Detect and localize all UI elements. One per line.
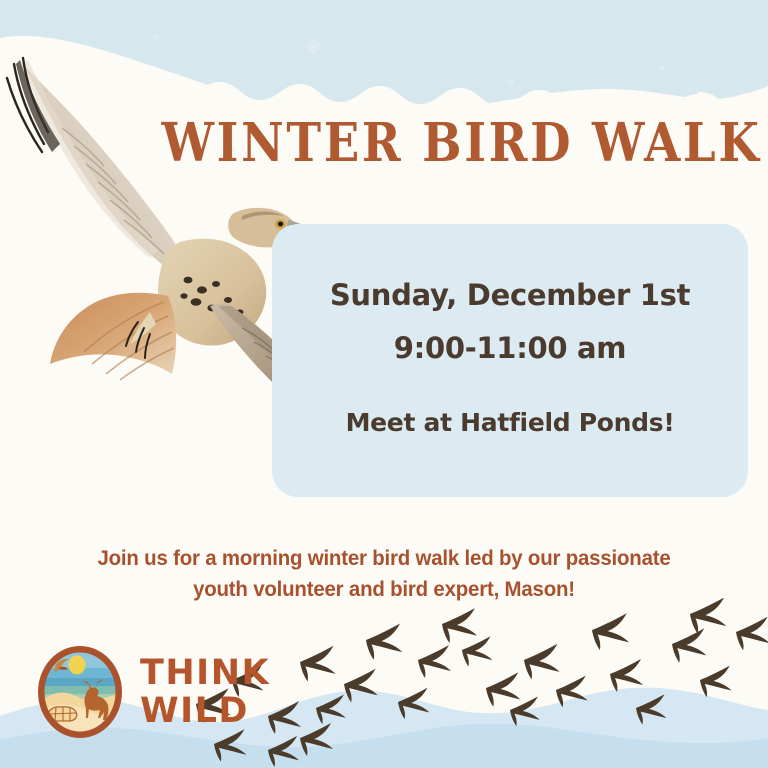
think-wild-logo: THINK WILD [32,640,270,744]
think-wild-badge-icon [32,640,128,744]
event-location: Meet at Hatfield Ponds! [346,408,675,437]
event-time: 9:00-11:00 am [394,331,626,365]
event-info-card: Sunday, December 1st 9:00-11:00 am Meet … [272,224,748,497]
event-description: Join us for a morning winter bird walk l… [71,543,698,605]
logo-line-think: THINK [140,654,270,692]
poster: ❄ ❄ ❄ ❄ ❄ ❄ ❄ [0,0,768,768]
event-date: Sunday, December 1st [330,278,690,312]
logo-wordmark: THINK WILD [140,654,270,730]
poster-title: WINTER BIRD WALK [162,112,655,174]
logo-line-wild: WILD [140,692,270,730]
